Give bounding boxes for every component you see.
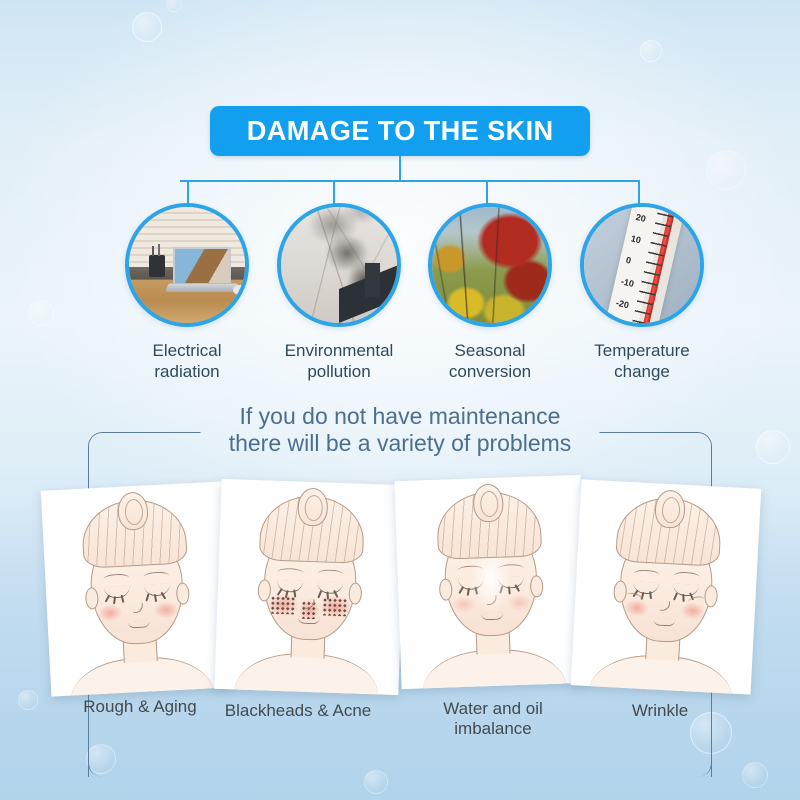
face-rough-aging-illustration: [41, 481, 234, 696]
chimney-shape: [365, 263, 380, 297]
eyebrow-right-shape: [143, 571, 169, 581]
background-bubble: [28, 300, 54, 326]
mouth-shape: [128, 620, 150, 628]
cheek-left-blush: [98, 604, 123, 622]
acne-spots-right: [320, 595, 351, 618]
mouth-shape: [298, 617, 320, 625]
thermometer-icon: 20 10 0 -10 -20 -30: [584, 207, 700, 323]
cause-label-line: Temperature: [562, 340, 722, 361]
cause-label-line: radiation: [107, 361, 267, 382]
ear-left-shape: [85, 587, 99, 610]
page-title-banner: DAMAGE TO THE SKIN: [210, 106, 590, 156]
problem-label-wrinkle: Wrinkle: [570, 701, 750, 721]
thermometer-scale-value: -10: [620, 276, 635, 289]
eyebrow-left-shape: [103, 573, 129, 583]
eyebrow-right-shape: [673, 571, 699, 581]
thermometer-scale-value: 20: [635, 212, 647, 224]
page-title: DAMAGE TO THE SKIN: [247, 115, 554, 147]
eyebrow-left-shape: [633, 569, 659, 579]
thermometer-body-shape: 20 10 0 -10 -20 -30: [601, 203, 688, 327]
eyebrow-left-shape: [277, 568, 303, 578]
thermometer-scale-value: -20: [615, 298, 630, 311]
cause-circle-electrical-radiation[interactable]: [125, 203, 249, 327]
cause-label-line: change: [562, 361, 722, 382]
shoulders-shape: [234, 651, 380, 695]
background-bubble: [640, 40, 662, 62]
laptop-desk-icon: [129, 207, 245, 323]
cheek-right-blush: [154, 601, 179, 619]
pen-holder-shape: [149, 255, 165, 277]
eyebrow-right-shape: [317, 569, 343, 579]
background-bubble: [132, 12, 162, 42]
cause-label-temperature-change: Temperature change: [562, 340, 722, 382]
eye-left-shape: [277, 580, 303, 593]
mouth-shape: [653, 618, 675, 626]
cause-label-line: Electrical: [107, 340, 267, 361]
cause-label-line: conversion: [410, 361, 570, 382]
cheek-left-blush: [624, 599, 649, 617]
ear-left-shape: [257, 579, 271, 601]
ear-right-shape: [176, 582, 190, 605]
ear-right-shape: [704, 585, 718, 608]
tree-trunks-shape: [432, 207, 548, 323]
section-heading-line-1: If you do not have maintenance: [0, 403, 800, 430]
background-bubble: [18, 690, 38, 710]
problem-label-blackheads-acne: Blackheads & Acne: [198, 701, 398, 721]
thermometer-scale-value: 10: [630, 233, 642, 245]
cause-circle-temperature-change[interactable]: 20 10 0 -10 -20 -30: [580, 203, 704, 327]
ear-left-shape: [439, 578, 453, 600]
connector-bar: [180, 180, 640, 182]
problem-label-line: Wrinkle: [570, 701, 750, 721]
cause-label-environmental-pollution: Environmental pollution: [259, 340, 419, 382]
towel-knot-shape: [297, 488, 328, 527]
cause-circle-seasonal-conversion[interactable]: [428, 203, 552, 327]
cause-label-seasonal-conversion: Seasonal conversion: [410, 340, 570, 382]
problem-card-water-oil-imbalance[interactable]: [394, 475, 587, 689]
background-bubble: [706, 150, 746, 190]
problem-label-line: Blackheads & Acne: [198, 701, 398, 721]
thermometer-scale-value: 0: [625, 255, 632, 266]
face-blackheads-acne-illustration: [214, 479, 405, 695]
problem-card-rough-aging[interactable]: [41, 481, 234, 696]
chimney-smoke-icon: [281, 207, 397, 323]
ear-right-shape: [348, 582, 362, 604]
cause-label-line: Seasonal: [410, 340, 570, 361]
problem-label-line: Water and oil: [398, 699, 588, 719]
eye-right-shape: [673, 583, 700, 596]
problem-card-blackheads-acne[interactable]: [214, 479, 405, 695]
towel-knot-shape: [117, 491, 149, 531]
nose-shape: [133, 603, 144, 614]
cause-circle-environmental-pollution[interactable]: [277, 203, 401, 327]
problem-card-wrinkle[interactable]: [571, 479, 762, 694]
cause-label-electrical-radiation: Electrical radiation: [107, 340, 267, 382]
eye-right-shape: [144, 583, 171, 596]
towel-knot-shape: [473, 484, 504, 523]
autumn-trees-icon: [432, 207, 548, 323]
nose-shape: [660, 601, 671, 612]
eye-left-shape: [104, 585, 131, 598]
laptop-screen-shape: [173, 247, 231, 283]
eye-left-shape: [633, 581, 660, 594]
eye-right-shape: [317, 581, 343, 594]
face-oily-shine-illustration: [394, 475, 587, 689]
ear-left-shape: [613, 580, 627, 603]
problem-label-line: imbalance: [398, 719, 588, 739]
acne-spots-left: [268, 594, 299, 617]
ear-right-shape: [530, 575, 544, 597]
connector-stem: [399, 156, 401, 181]
problem-label-water-oil-imbalance: Water and oil imbalance: [398, 699, 588, 739]
cause-label-line: pollution: [259, 361, 419, 382]
cheek-right-blush: [680, 602, 705, 620]
background-bubble: [742, 762, 768, 788]
laptop-keyboard-shape: [165, 283, 240, 291]
face-wrinkle-illustration: [571, 479, 762, 694]
cause-label-line: Environmental: [259, 340, 419, 361]
